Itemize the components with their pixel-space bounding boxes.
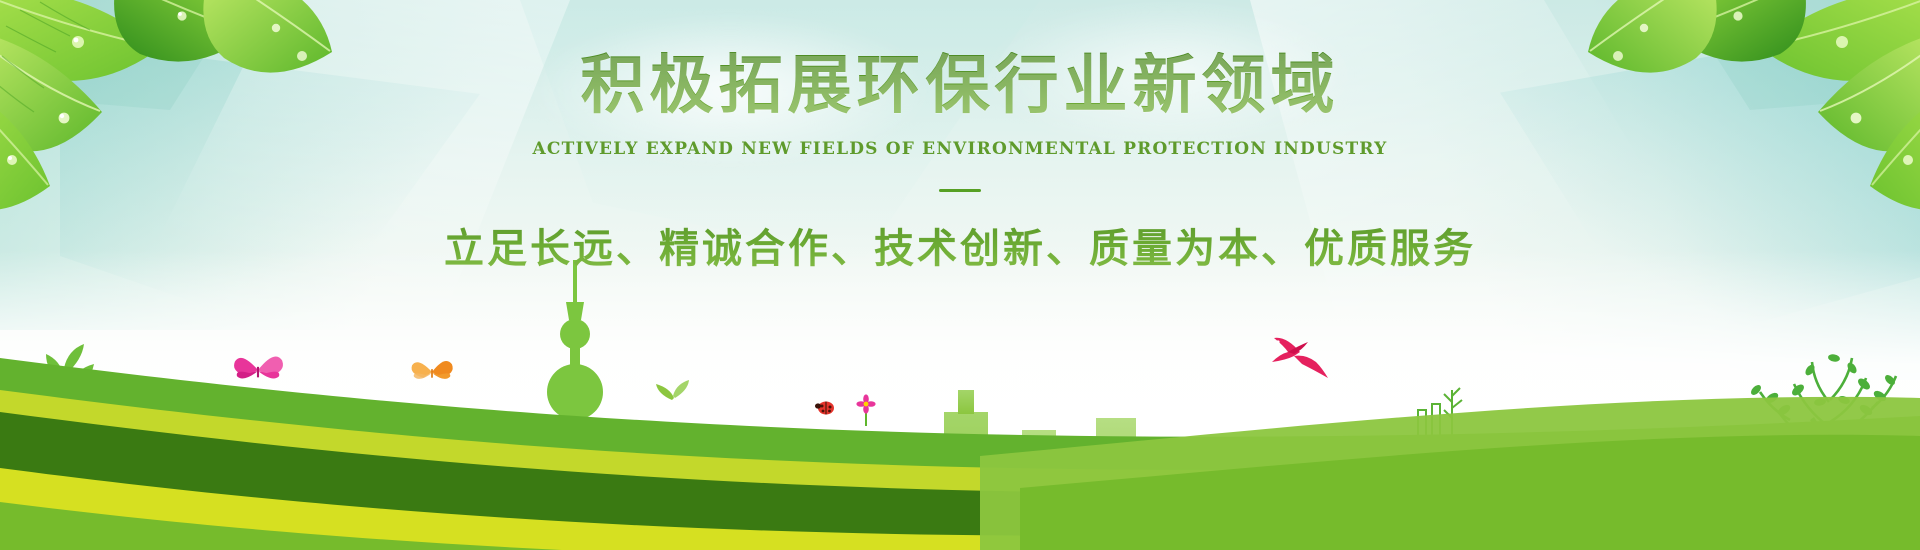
sprout-icon (264, 468, 324, 550)
bicycle-icon (329, 450, 481, 535)
hummingbird-icon (1272, 338, 1328, 378)
butterfly-icon (412, 361, 453, 379)
city-skyline-icon (170, 392, 358, 550)
ladybug-icon (815, 402, 834, 415)
wave-bands-shape (0, 320, 1920, 550)
banner-tagline: 立足长远、精诚合作、技术创新、质量为本、优质服务 (0, 216, 1920, 274)
bicycle-seat-icon (374, 452, 400, 462)
orange-flower-icon (169, 491, 203, 525)
bush-icon (535, 485, 622, 550)
twig-plant-icon (129, 467, 171, 550)
title-divider (939, 189, 981, 192)
tv-tower-icon (1226, 438, 1278, 550)
tree-icon (1749, 353, 1897, 550)
oriental-pearl-tower-icon (538, 260, 612, 550)
banner-text-block: 积极拓展环保行业新领域 ACTIVELY EXPAND NEW FIELDS O… (0, 52, 1920, 274)
banner-subtitle: ACTIVELY EXPAND NEW FIELDS OF ENVIRONMEN… (0, 139, 1920, 159)
pink-flower-icon (856, 394, 875, 426)
sunflower-icon (1736, 472, 1792, 550)
villa-house-icon (1356, 388, 1548, 550)
sprout-icon (656, 380, 689, 400)
sprout-icon (713, 486, 765, 550)
pink-flower-icon (1672, 501, 1698, 550)
sprout-icon (34, 344, 110, 550)
sprout-icon (1056, 500, 1097, 550)
eco-banner: 积极拓展环保行业新领域 ACTIVELY EXPAND NEW FIELDS O… (0, 0, 1920, 550)
butterfly-icon (234, 356, 283, 378)
city-skyline-icon (1596, 508, 1744, 550)
horizon-glow (0, 250, 1920, 440)
city-skyline-icon (760, 390, 1218, 550)
scenery-layer (0, 250, 1920, 550)
page-title: 积极拓展环保行业新领域 (0, 52, 1920, 119)
reeds-icon (1768, 477, 1845, 550)
reeds-icon (1607, 462, 1704, 550)
grass-icon (85, 499, 151, 550)
